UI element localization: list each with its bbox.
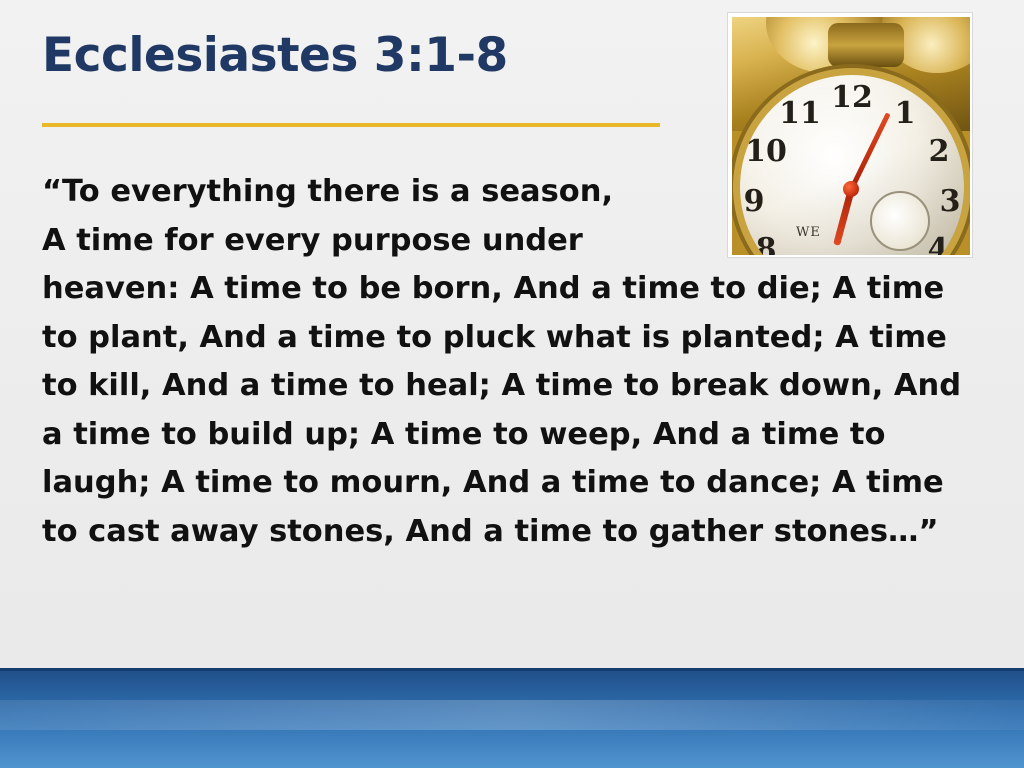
clock-numeral-3: 3 bbox=[928, 187, 964, 217]
alarm-clock-image: 12 1 2 3 4 5 6 7 8 9 10 11 WE bbox=[727, 12, 973, 258]
clock-numeral-8: 8 bbox=[744, 235, 788, 255]
page-title: Ecclesiastes 3:1-8 bbox=[42, 28, 508, 83]
footer-highlight bbox=[0, 700, 1024, 730]
clock-numeral-12: 12 bbox=[830, 83, 874, 113]
clock-center-cap bbox=[843, 181, 859, 197]
clock-numeral-9: 9 bbox=[740, 187, 776, 217]
clock-brand-text: WE bbox=[796, 225, 821, 240]
title-divider bbox=[42, 123, 660, 127]
clock-photo-canvas: 12 1 2 3 4 5 6 7 8 9 10 11 WE bbox=[732, 17, 970, 255]
clock-numeral-10: 10 bbox=[744, 137, 788, 167]
clock-bell-bridge bbox=[828, 23, 904, 67]
footer-top-edge bbox=[0, 668, 1024, 671]
clock-subdial bbox=[870, 191, 930, 251]
clock-numeral-2: 2 bbox=[917, 137, 961, 167]
clock-numeral-11: 11 bbox=[778, 99, 822, 129]
slide: Ecclesiastes 3:1-8 “To everything there … bbox=[0, 0, 1024, 768]
